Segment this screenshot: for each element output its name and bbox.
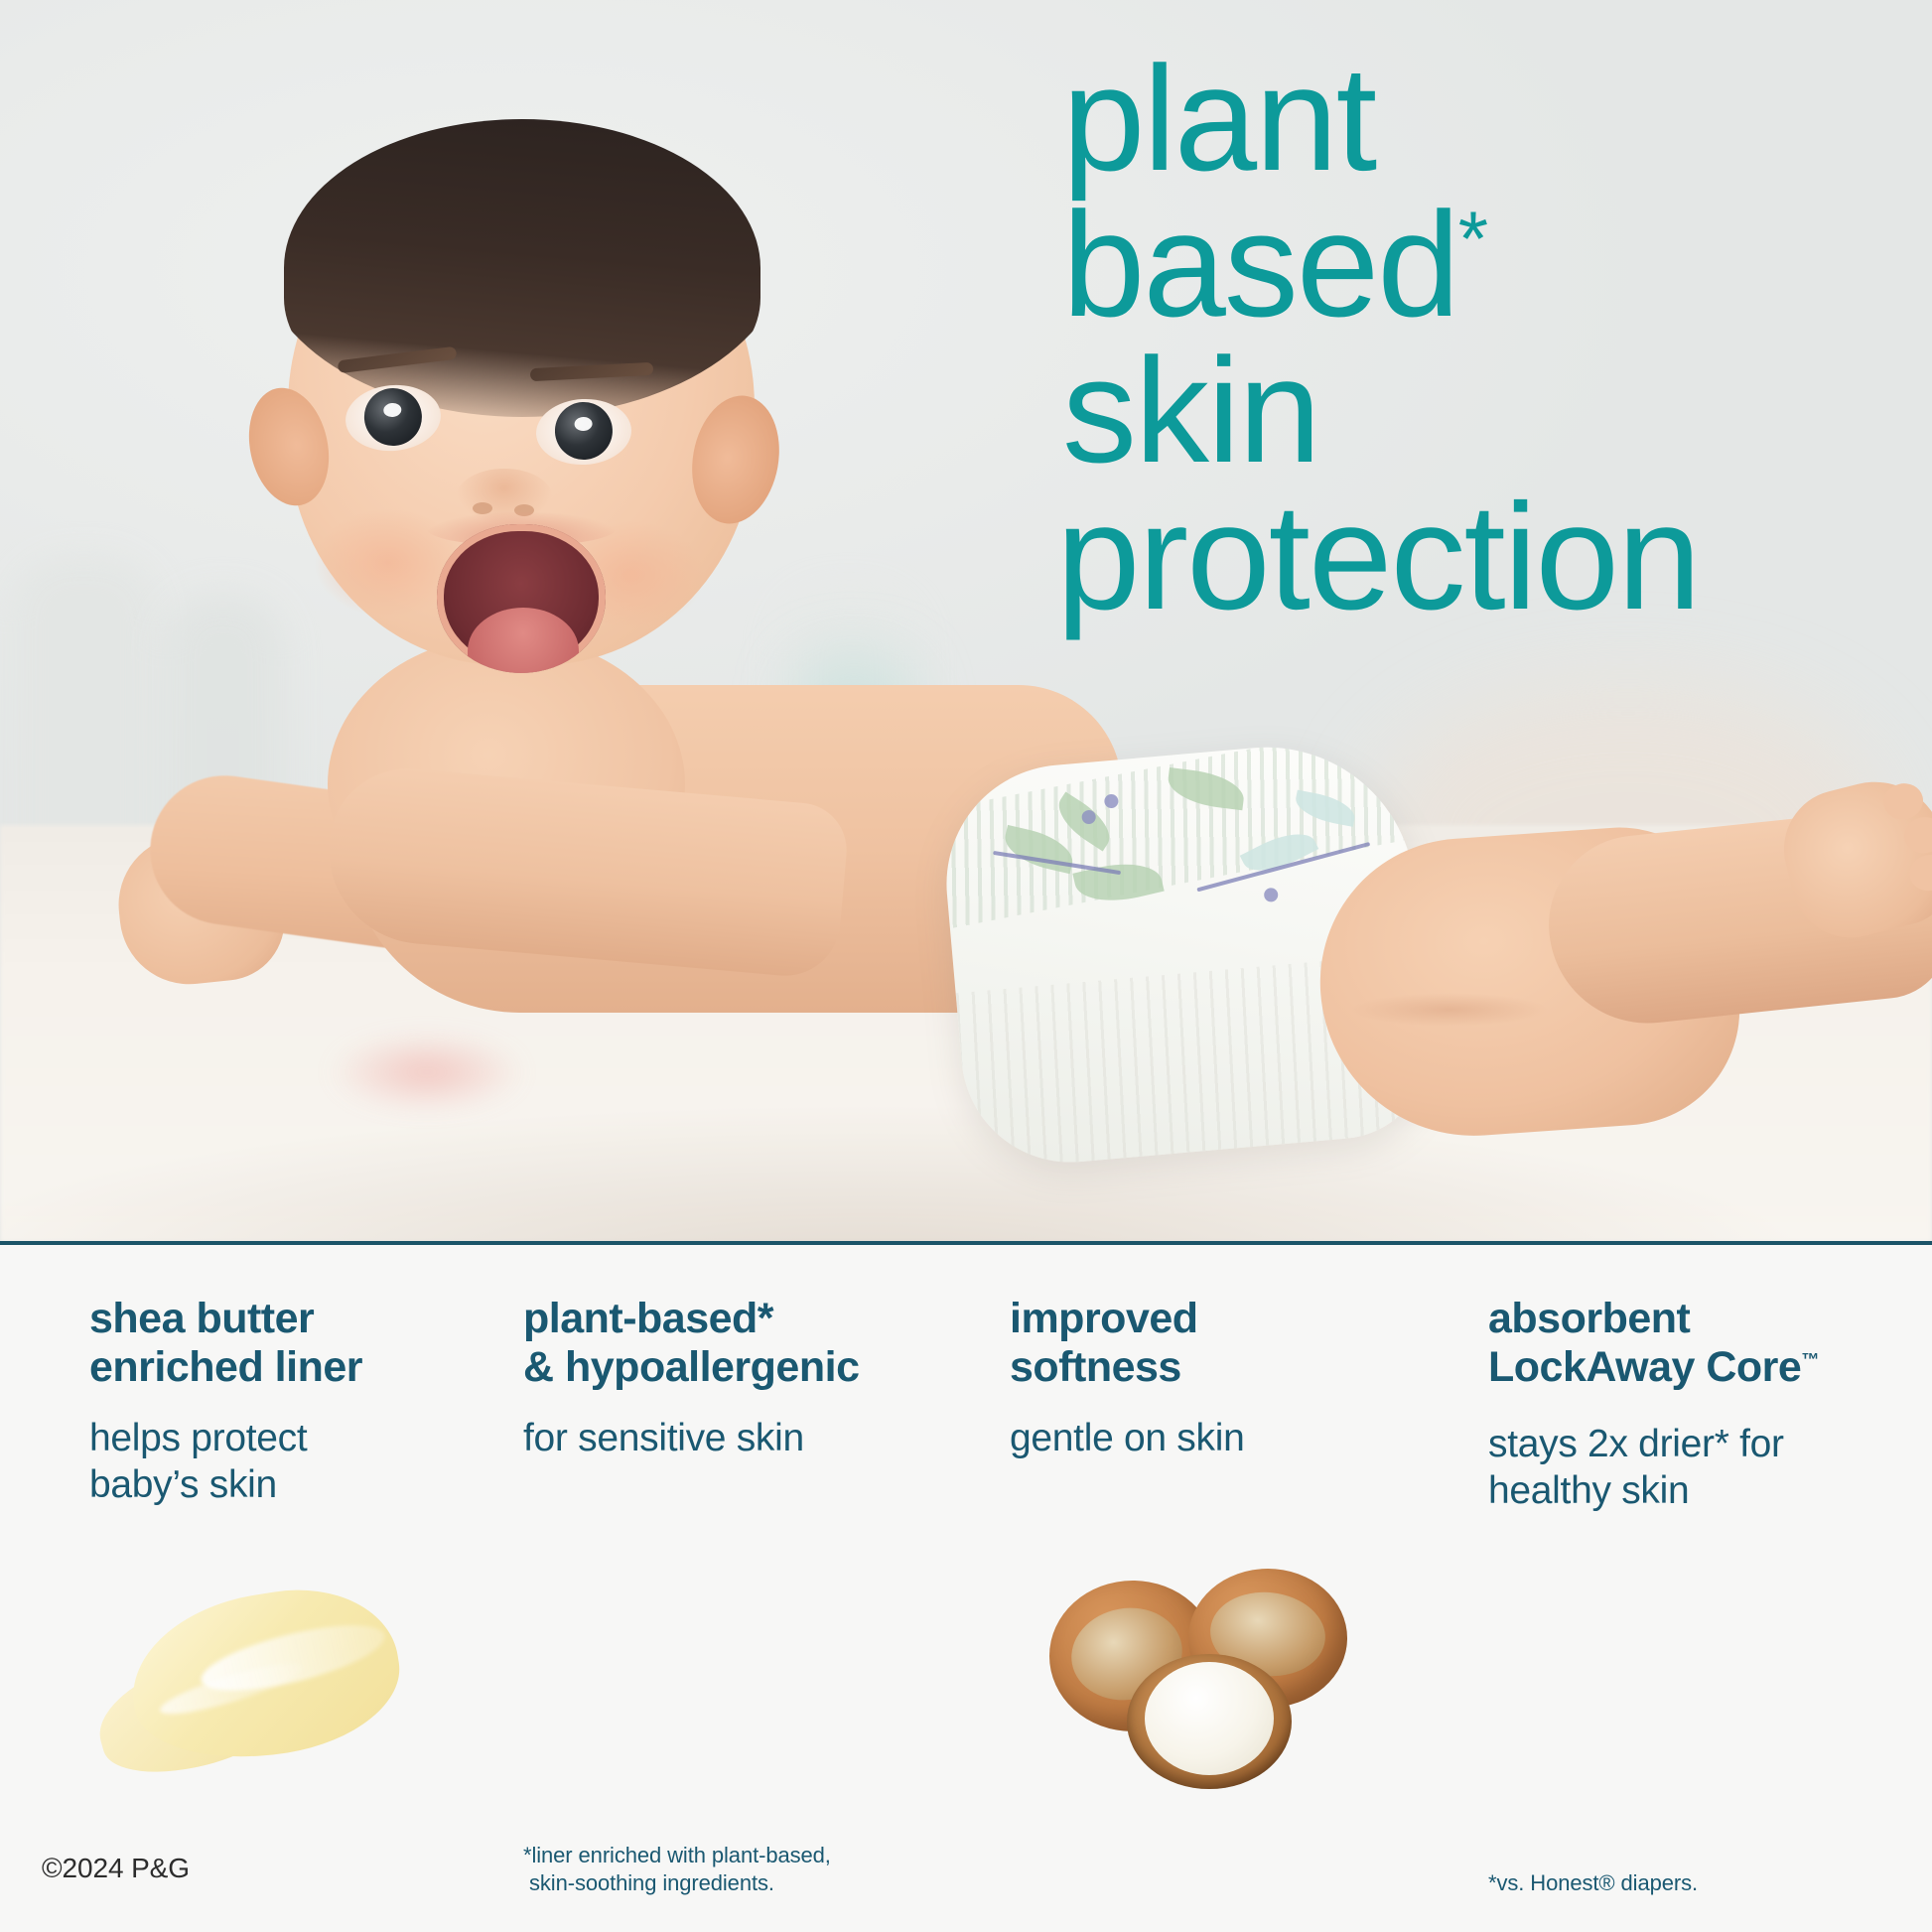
baby-toe — [1906, 851, 1932, 896]
eye-glint — [574, 416, 593, 431]
baby-toe — [1900, 813, 1932, 858]
footnote-line: *liner enriched with plant-based, — [523, 1843, 831, 1867]
headline-line-3: skin — [1062, 338, 1932, 483]
copyright-footnote: ©2024 P&G — [42, 1851, 466, 1886]
feature-title-line: improved — [1010, 1295, 1198, 1342]
feature-panel-improved-softness: improved softness gentle on skin — [970, 1245, 1445, 1932]
feature-subtitle-line: stays 2x drier* for — [1488, 1423, 1784, 1465]
headline-line-2: based* — [1062, 192, 1932, 338]
feature-subtitle-line: healthy skin — [1488, 1469, 1689, 1512]
feature-title-line: absorbent — [1488, 1295, 1690, 1342]
baby-head — [288, 119, 755, 675]
background-prop — [328, 1033, 526, 1112]
feature-subtitle: for sensitive skin — [523, 1416, 948, 1462]
headline-line-4: protection — [1056, 483, 1932, 631]
diaper-berry-motif — [1264, 888, 1279, 902]
trademark-symbol: ™ — [1801, 1350, 1819, 1370]
hero-photo: plant based* skin protection — [0, 0, 1932, 1242]
baby-hair — [284, 119, 760, 417]
baby-iris — [361, 385, 424, 448]
feature-panel-lockaway-core: absorbent LockAway Core™ stays 2x drier*… — [1449, 1245, 1932, 1932]
ad-creative: plant based* skin protection shea butter… — [0, 0, 1932, 1932]
baby-tongue — [468, 608, 579, 673]
honest-comparison-footnote: *vs. Honest® diapers. — [1488, 1869, 1918, 1898]
baby-iris — [553, 400, 614, 461]
shea-cream-swatch-icon — [91, 1573, 419, 1781]
feature-title-line: LockAway Core™ — [1488, 1343, 1819, 1391]
feature-subtitle-line: gentle on skin — [1010, 1417, 1244, 1459]
footnote-line: skin-soothing ingredients. — [523, 1870, 774, 1895]
headline-line-1: plant — [1062, 46, 1932, 192]
eye-glint — [382, 402, 401, 418]
feature-subtitle-line: for sensitive skin — [523, 1417, 804, 1459]
feature-panels: shea butter enriched liner helps protect… — [0, 1245, 1932, 1932]
feature-title: plant-based* & hypoallergenic — [523, 1295, 948, 1392]
baby-knee-fold — [1350, 993, 1549, 1027]
feature-subtitle-line: helps protect — [89, 1417, 307, 1459]
feature-subtitle: stays 2x drier* for healthy skin — [1488, 1422, 1914, 1515]
asterisk-marker: * — [1458, 195, 1488, 282]
feature-title: shea butter enriched liner — [89, 1295, 462, 1392]
feature-subtitle: helps protect baby’s skin — [89, 1416, 462, 1509]
baby-mouth — [437, 524, 606, 673]
feature-panel-shea-butter: shea butter enriched liner helps protect… — [0, 1245, 480, 1932]
feature-title-line: shea butter — [89, 1295, 314, 1342]
feature-title-line: softness — [1010, 1343, 1181, 1391]
feature-title-line: & hypoallergenic — [523, 1343, 859, 1391]
plant-based-footnote: *liner enriched with plant-based, skin-s… — [523, 1842, 952, 1898]
page-title: plant based* skin protection — [1062, 46, 1932, 631]
feature-title: absorbent LockAway Core™ — [1488, 1295, 1914, 1392]
feature-panel-plant-based: plant-based* & hypoallergenic for sensit… — [483, 1245, 966, 1932]
feature-title: improved softness — [1010, 1295, 1427, 1392]
feature-title-line: plant-based* — [523, 1295, 773, 1342]
feature-title-line: enriched liner — [89, 1343, 362, 1391]
feature-subtitle-line: baby’s skin — [89, 1463, 277, 1506]
feature-subtitle: gentle on skin — [1010, 1416, 1427, 1462]
